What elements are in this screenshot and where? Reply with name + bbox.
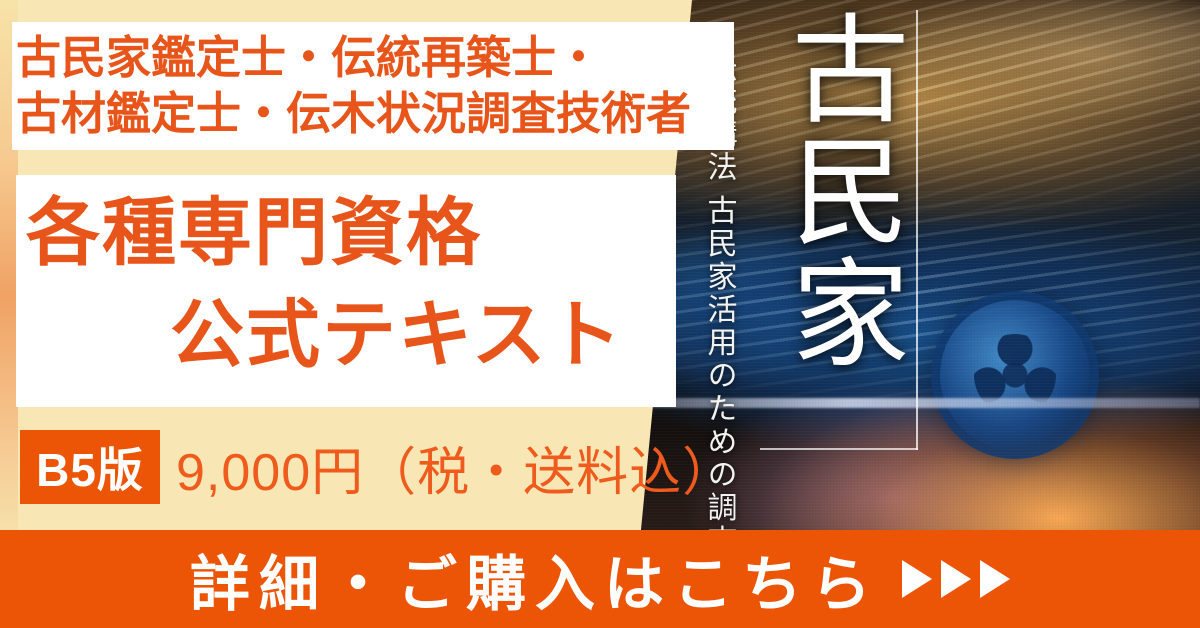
qualifications-line-1: 古民家鑑定士・伝統再築士・ (16, 29, 732, 88)
headline-line-2: 公式テキスト (20, 284, 672, 386)
qualifications-line-2: 古材鑑定士・伝木状況調査技術者 (16, 85, 732, 144)
cover-border-line-vertical (916, 10, 918, 450)
triangle-right-icon (980, 560, 1010, 598)
cover-border-line-horizontal (760, 448, 918, 450)
promo-banner: 古民家 伝統構法 古民家活用のための調査と再生の 古民家鑑定士・伝統再築士・ 古… (0, 0, 1200, 628)
qualifications-text: 古民家鑑定士・伝統再築士・ 古材鑑定士・伝木状況調査技術者 (16, 25, 732, 147)
cta-arrow-group (902, 560, 1010, 598)
headline-text: 各種専門資格 公式テキスト (20, 182, 672, 402)
price-text: 9,000円（税・送料込） (176, 430, 735, 504)
format-badge: B5版 (20, 430, 160, 504)
triangle-right-icon (941, 560, 971, 598)
headline-line-1: 各種専門資格 (20, 182, 672, 284)
triangle-right-icon (902, 560, 932, 598)
cta-button[interactable]: 詳細・ご購入はこちら (0, 530, 1200, 628)
book-cover-title: 古民家 (790, 8, 908, 374)
cta-label: 詳細・ご購入はこちら (190, 536, 880, 623)
